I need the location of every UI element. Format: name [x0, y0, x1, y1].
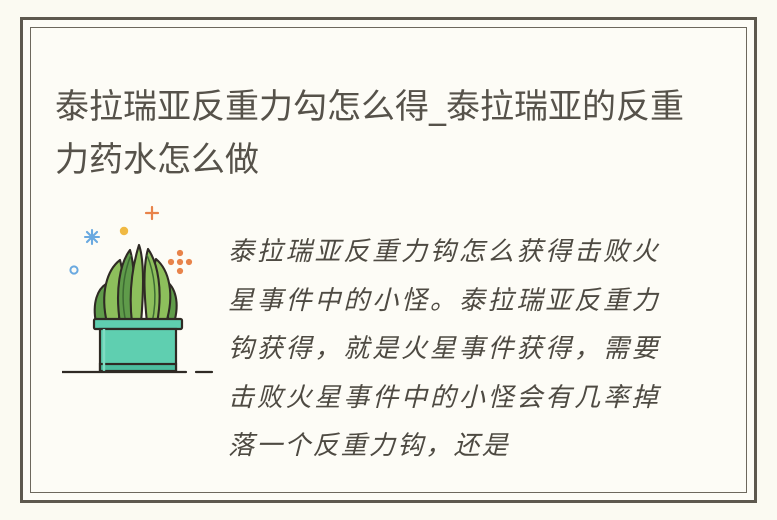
flower-sparkle	[168, 250, 192, 274]
ring-sparkle	[70, 266, 77, 273]
content-area: 泰拉瑞亚反重力勾怎么得_泰拉瑞亚的反重力药水怎么做	[30, 27, 747, 493]
dot-sparkle	[120, 227, 128, 235]
article-body: 泰拉瑞亚反重力钩怎么获得击败火星事件中的小怪。泰拉瑞亚反重力钩获得，就是火星事件…	[228, 228, 660, 471]
plant-illustration	[62, 192, 232, 392]
snowflake-sparkle	[85, 230, 99, 244]
plant-pot	[94, 319, 182, 371]
plus-sparkle	[146, 207, 158, 219]
page-title: 泰拉瑞亚反重力勾怎么得_泰拉瑞亚的反重力药水怎么做	[55, 81, 695, 187]
plant-leaves	[95, 245, 177, 323]
page-root: 泰拉瑞亚反重力勾怎么得_泰拉瑞亚的反重力药水怎么做	[0, 0, 777, 520]
